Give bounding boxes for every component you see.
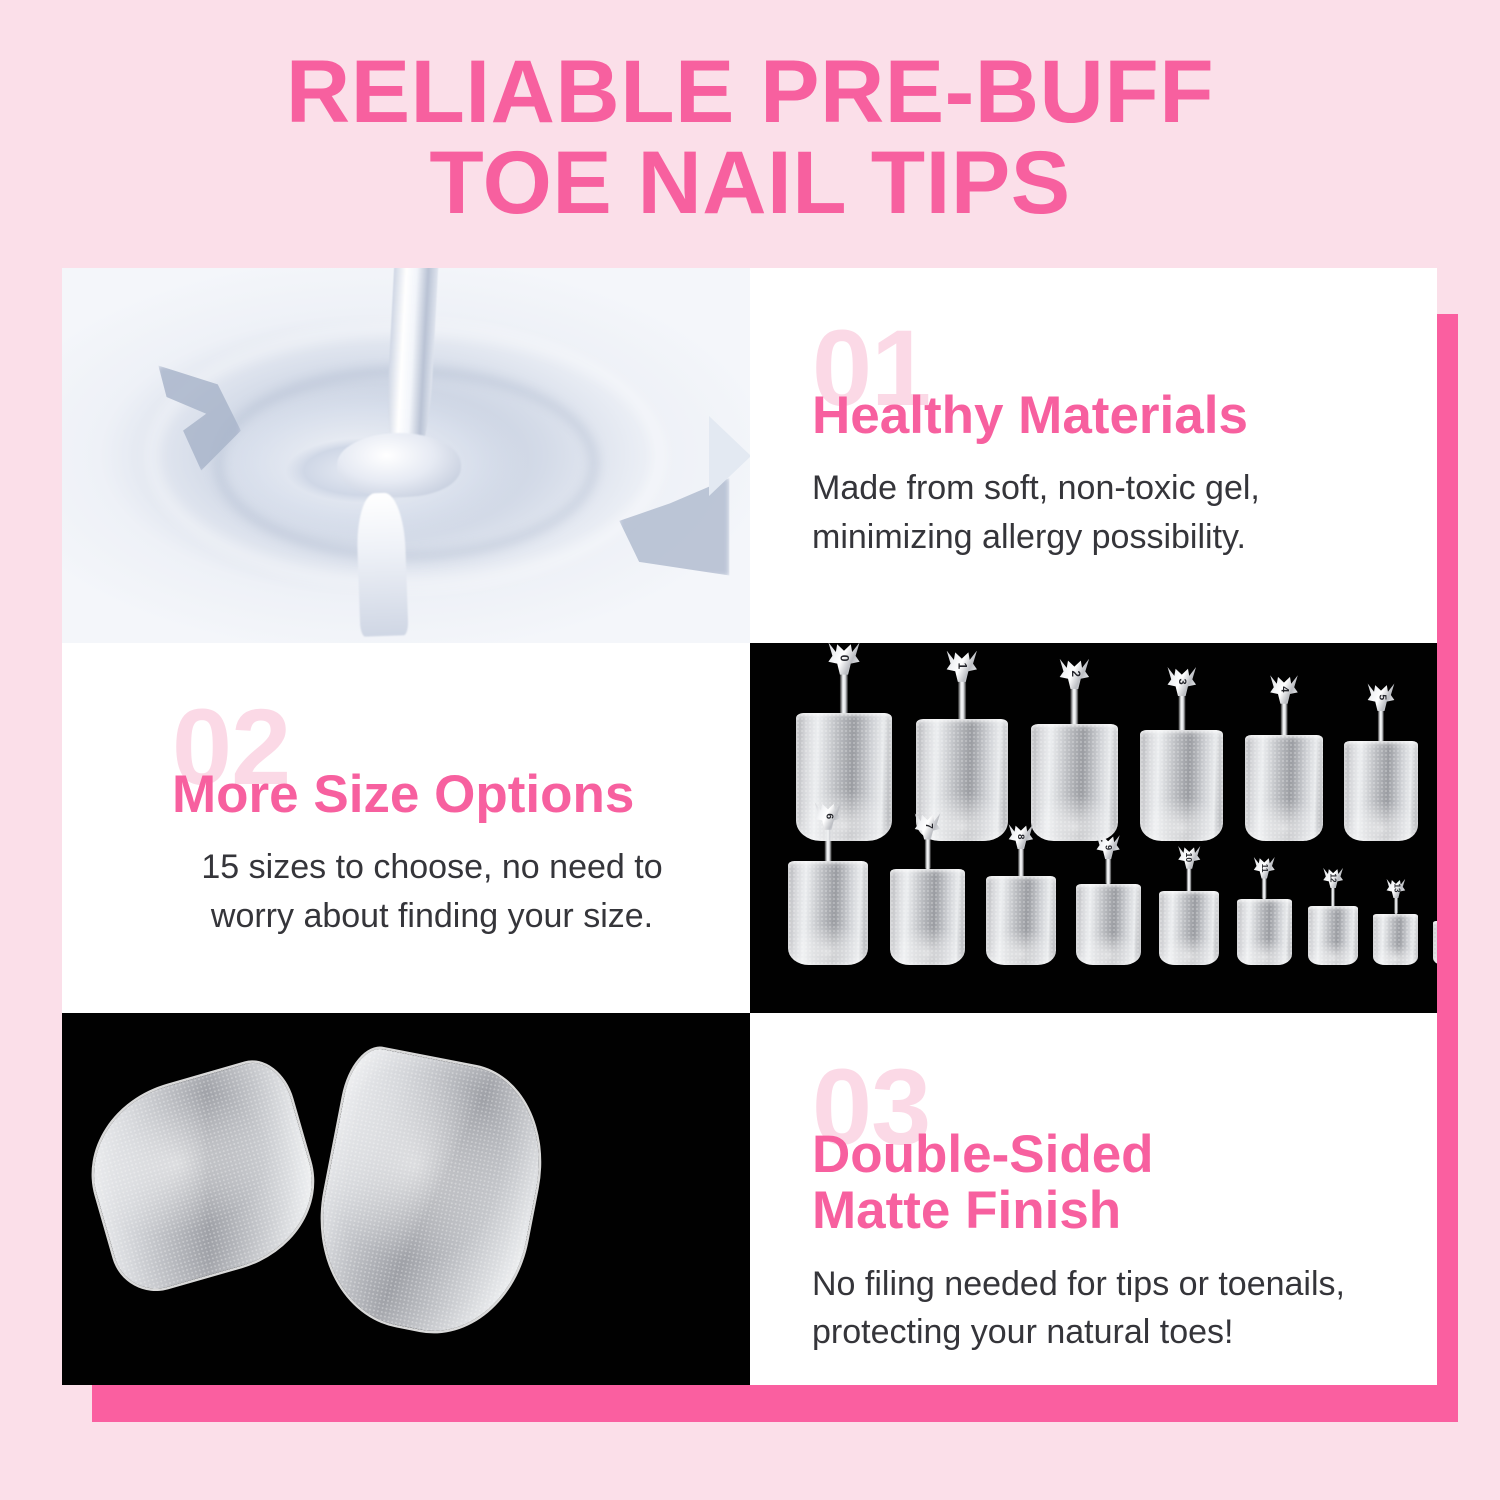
nail-tip-size-9: 9: [1076, 835, 1141, 965]
butterfly-tab-icon: 4: [1269, 675, 1299, 704]
nail-tip-label: 9: [1104, 845, 1113, 850]
feature-03-heading: Double-Sided Matte Finish: [812, 1127, 1371, 1239]
nail-tip-label: 5: [1376, 694, 1386, 700]
butterfly-tab-icon: 5: [1367, 683, 1396, 711]
feature-03-heading-line-2: Matte Finish: [812, 1183, 1371, 1239]
feature-02-body-line-2: worry about finding your size.: [172, 892, 692, 940]
feature-02-cell: 02 More Size Options 15 sizes to choose,…: [62, 643, 750, 1013]
nail-tip-body: [788, 861, 868, 965]
matte-tip-front: [74, 1054, 332, 1299]
nail-tip-size-12: 12: [1308, 868, 1358, 965]
nail-tip-body: [986, 876, 1056, 965]
feature-03-body-line-1: No filing needed for tips or toenails,: [812, 1260, 1371, 1308]
butterfly-tab-icon: 11: [1253, 857, 1276, 879]
nail-tip-label: 8: [1016, 834, 1026, 839]
butterfly-tab-icon: 1: [945, 651, 978, 682]
matte-photo-cell: [62, 1013, 750, 1385]
feature-01-body-line-1: Made from soft, non-toxic gel,: [812, 464, 1371, 512]
feature-03-cell: 03 Double-Sided Matte Finish No filing n…: [750, 1013, 1437, 1385]
nail-tip-size-11: 11: [1237, 857, 1292, 965]
feature-03-body-line-2: protecting your natural toes!: [812, 1308, 1371, 1356]
butterfly-tab-icon: 13: [1386, 879, 1406, 898]
butterfly-tab-icon: 12: [1322, 868, 1344, 888]
gel-pour-icon: [62, 268, 750, 643]
butterfly-tab-icon: 3: [1166, 667, 1197, 696]
nail-tip-body: [1433, 921, 1438, 965]
nail-tip-size-13: 13: [1373, 879, 1418, 965]
nail-tip-size-7: 7: [890, 813, 965, 965]
feature-03-heading-line-1: Double-Sided: [812, 1127, 1371, 1183]
gel-impact-blob: [337, 433, 461, 497]
butterfly-tab-icon: 6: [814, 802, 843, 830]
feature-02-body: 15 sizes to choose, no need to worry abo…: [172, 843, 710, 940]
pointer-triangle-row1: [709, 416, 750, 496]
gel-photo-cell: [62, 268, 750, 643]
nail-tip-size-14: 14: [1433, 889, 1438, 965]
nail-tip-label: 11: [1260, 863, 1268, 872]
feature-01-cell: 01 Healthy Materials Made from soft, non…: [750, 268, 1437, 643]
nail-tip-body: [1140, 730, 1223, 841]
nail-tip-size-2: 2: [1031, 659, 1118, 841]
page-title-line-2: TOE NAIL TIPS: [0, 137, 1500, 228]
feature-02-heading: More Size Options: [172, 767, 710, 823]
matte-nail-tips-icon: [62, 1013, 750, 1385]
butterfly-tab-icon: 7: [914, 813, 942, 839]
nail-tip-body: [1237, 899, 1292, 966]
nail-tip-label: 1: [956, 663, 968, 670]
nail-tip-label: 0: [838, 655, 850, 662]
nail-tip-size-3: 3: [1140, 667, 1223, 841]
nail-tip-label: 2: [1069, 671, 1081, 677]
nail-tip-body: [1076, 884, 1141, 966]
nail-tip-size-6: 6: [788, 802, 868, 965]
feature-02-body-line-1: 15 sizes to choose, no need to: [172, 843, 692, 891]
nail-tip-body: [1245, 735, 1323, 841]
nail-tip-size-5: 5: [1344, 683, 1418, 841]
nail-tip-size-chart-icon: 01234567891011121314: [750, 643, 1437, 1013]
feature-03-body: No filing needed for tips or toenails, p…: [812, 1260, 1371, 1357]
butterfly-tab-icon: 8: [1008, 824, 1035, 849]
feature-01-body: Made from soft, non-toxic gel, minimizin…: [812, 464, 1371, 561]
nail-tip-body: [890, 869, 965, 966]
feature-01-heading: Healthy Materials: [812, 388, 1371, 444]
butterfly-tab-icon: 0: [827, 643, 861, 675]
feature-01-body-line-2: minimizing allergy possibility.: [812, 513, 1371, 561]
nail-tip-label: 12: [1329, 874, 1337, 883]
matte-tip-back: [303, 1044, 557, 1346]
nail-tip-label: 7: [923, 824, 933, 830]
page-title: RELIABLE PRE-BUFF TOE NAIL TIPS: [0, 46, 1500, 228]
nail-tip-label: 3: [1176, 679, 1187, 685]
nail-tip-label: 10: [1185, 853, 1194, 863]
nail-tip-size-10: 10: [1159, 846, 1219, 965]
size-chart-photo-cell: 01234567891011121314: [750, 643, 1437, 1013]
page-title-line-1: RELIABLE PRE-BUFF: [0, 46, 1500, 137]
butterfly-tab-icon: 9: [1096, 835, 1121, 859]
nail-tip-label: 13: [1392, 884, 1400, 893]
nail-tip-body: [1308, 906, 1358, 965]
nail-tip-body: [1373, 914, 1418, 966]
nail-tip-label: 6: [823, 813, 833, 819]
nail-tip-body: [1159, 891, 1219, 965]
nail-tip-label: 4: [1279, 686, 1290, 692]
nail-tip-body: [1344, 741, 1418, 841]
butterfly-tab-icon: 10: [1177, 846, 1201, 869]
nail-tip-size-4: 4: [1245, 675, 1323, 841]
butterfly-tab-icon: 2: [1058, 659, 1090, 689]
nail-tip-size-8: 8: [986, 824, 1056, 965]
feature-grid: 01 Healthy Materials Made from soft, non…: [62, 268, 1437, 1385]
